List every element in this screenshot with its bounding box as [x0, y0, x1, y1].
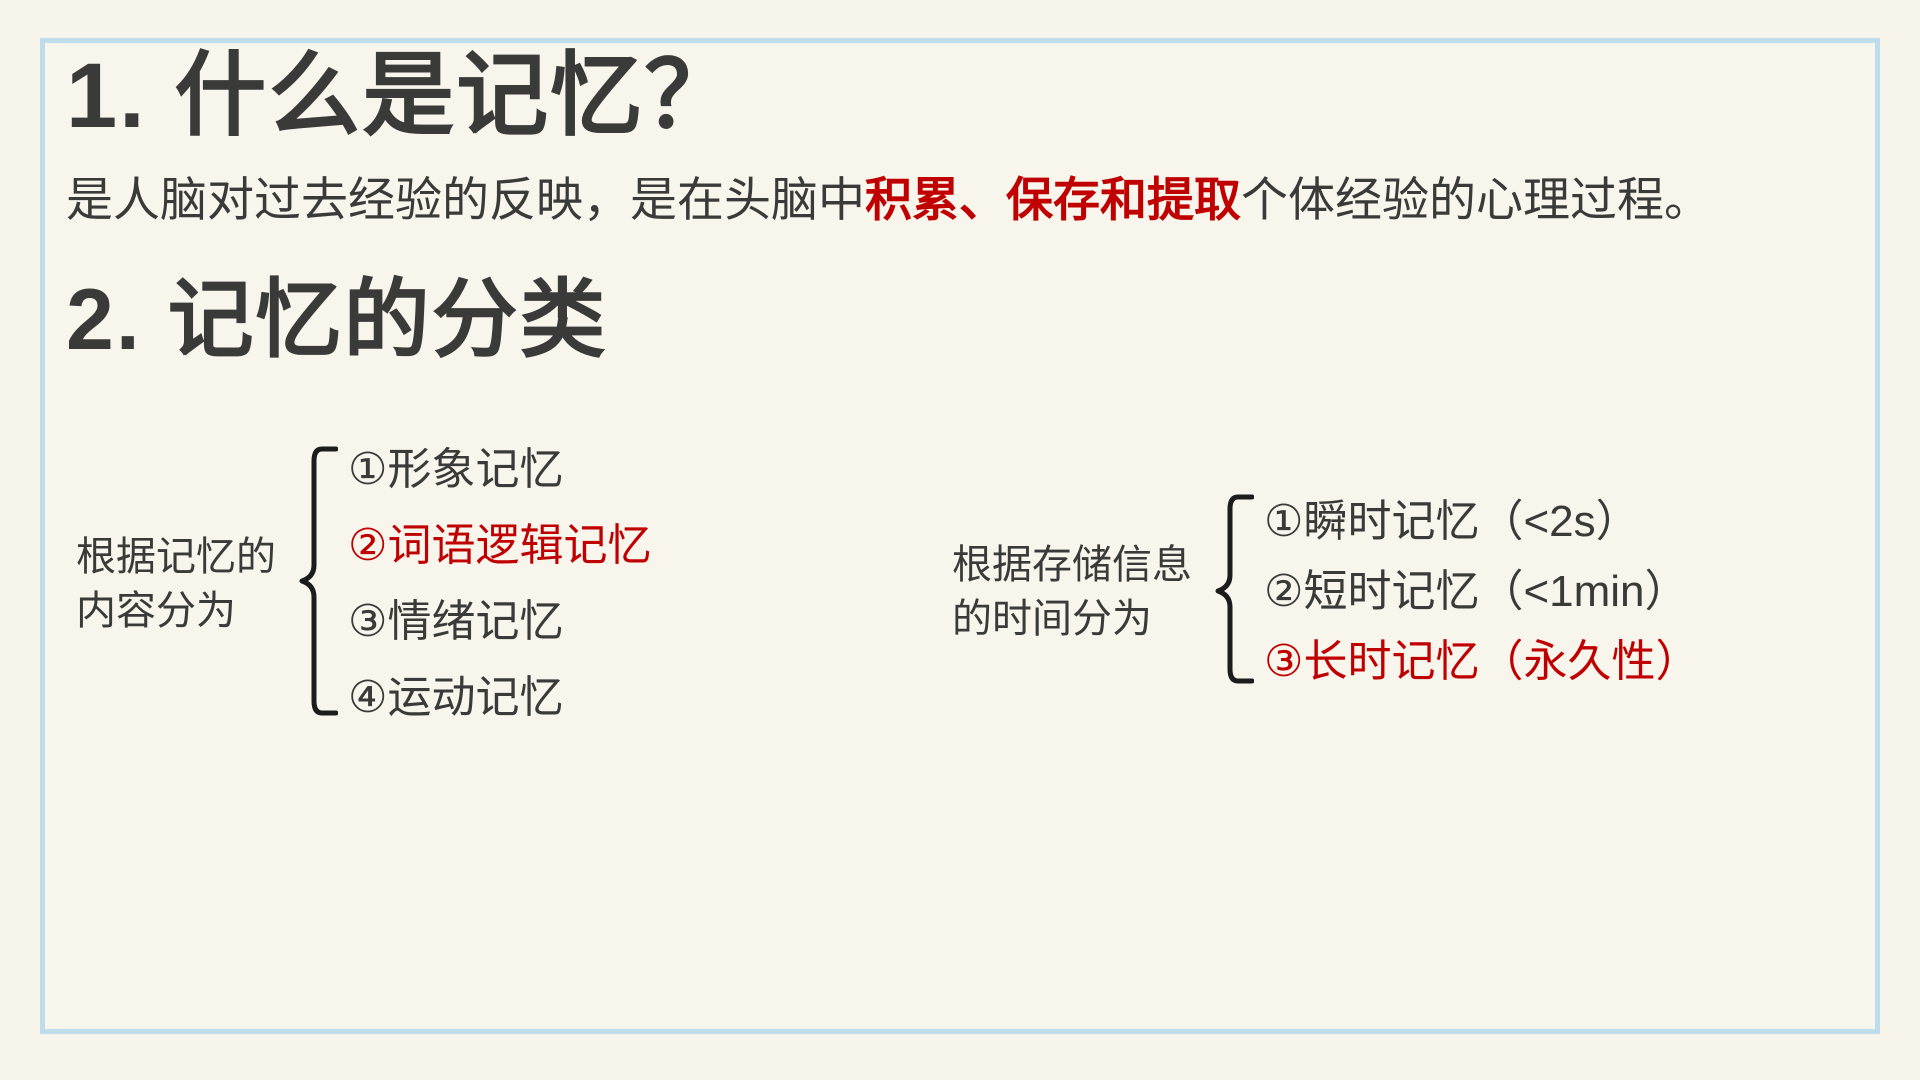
- group-by-content-label-line-2: 内容分为: [76, 584, 276, 638]
- list-item: ②短时记忆（<1min）: [1264, 570, 1699, 614]
- list-item: ④运动记忆: [348, 676, 651, 720]
- section-2-heading: 2. 记忆的分类: [66, 277, 1872, 363]
- classification-group-by-duration: 根据存储信息 的时间分为 ①瞬时记忆（<2s） ②短时记忆（<1min） ③长时…: [952, 491, 1699, 692]
- classification-diagram: 根据记忆的 内容分为 ①形象记忆 ②词语逻辑记忆 ③情绪记忆 ④运动记忆: [66, 417, 1872, 847]
- group-by-content-items: ①形象记忆 ②词语逻辑记忆 ③情绪记忆 ④运动记忆: [348, 448, 651, 720]
- slide-canvas: 1. 什么是记忆？ 是人脑对过去经验的反映，是在头脑中积累、保存和提取个体经验的…: [0, 0, 1920, 1080]
- slide-content: 1. 什么是记忆？ 是人脑对过去经验的反映，是在头脑中积累、保存和提取个体经验的…: [66, 50, 1872, 1040]
- curly-brace-icon: [292, 443, 338, 724]
- group-by-content-label-line-1: 根据记忆的: [76, 530, 276, 584]
- section-1-heading: 1. 什么是记忆？: [66, 50, 1872, 142]
- definition-text-part-1: 是人脑对过去经验的反映，是在头脑中: [66, 173, 865, 226]
- classification-group-by-content: 根据记忆的 内容分为 ①形象记忆 ②词语逻辑记忆 ③情绪记忆 ④运动记忆: [76, 443, 651, 724]
- group-by-duration-label: 根据存储信息 的时间分为: [952, 538, 1192, 646]
- group-by-content-label: 根据记忆的 内容分为: [76, 530, 276, 638]
- section-1-definition-text: 是人脑对过去经验的反映，是在头脑中积累、保存和提取个体经验的心理过程。: [66, 168, 1872, 231]
- definition-text-part-2: 个体经验的心理过程。: [1241, 173, 1711, 226]
- group-by-duration-label-line-2: 的时间分为: [952, 592, 1192, 646]
- list-item: ①形象记忆: [348, 448, 651, 492]
- group-by-duration-items: ①瞬时记忆（<2s） ②短时记忆（<1min） ③长时记忆（永久性）: [1264, 500, 1699, 684]
- curly-brace-icon: [1208, 491, 1254, 692]
- list-item: ③情绪记忆: [348, 600, 651, 644]
- group-by-duration-label-line-1: 根据存储信息: [952, 538, 1192, 592]
- definition-highlight-text: 积累、保存和提取: [865, 173, 1241, 226]
- list-item: ②词语逻辑记忆: [348, 524, 651, 568]
- list-item: ③长时记忆（永久性）: [1264, 640, 1699, 684]
- list-item: ①瞬时记忆（<2s）: [1264, 500, 1699, 544]
